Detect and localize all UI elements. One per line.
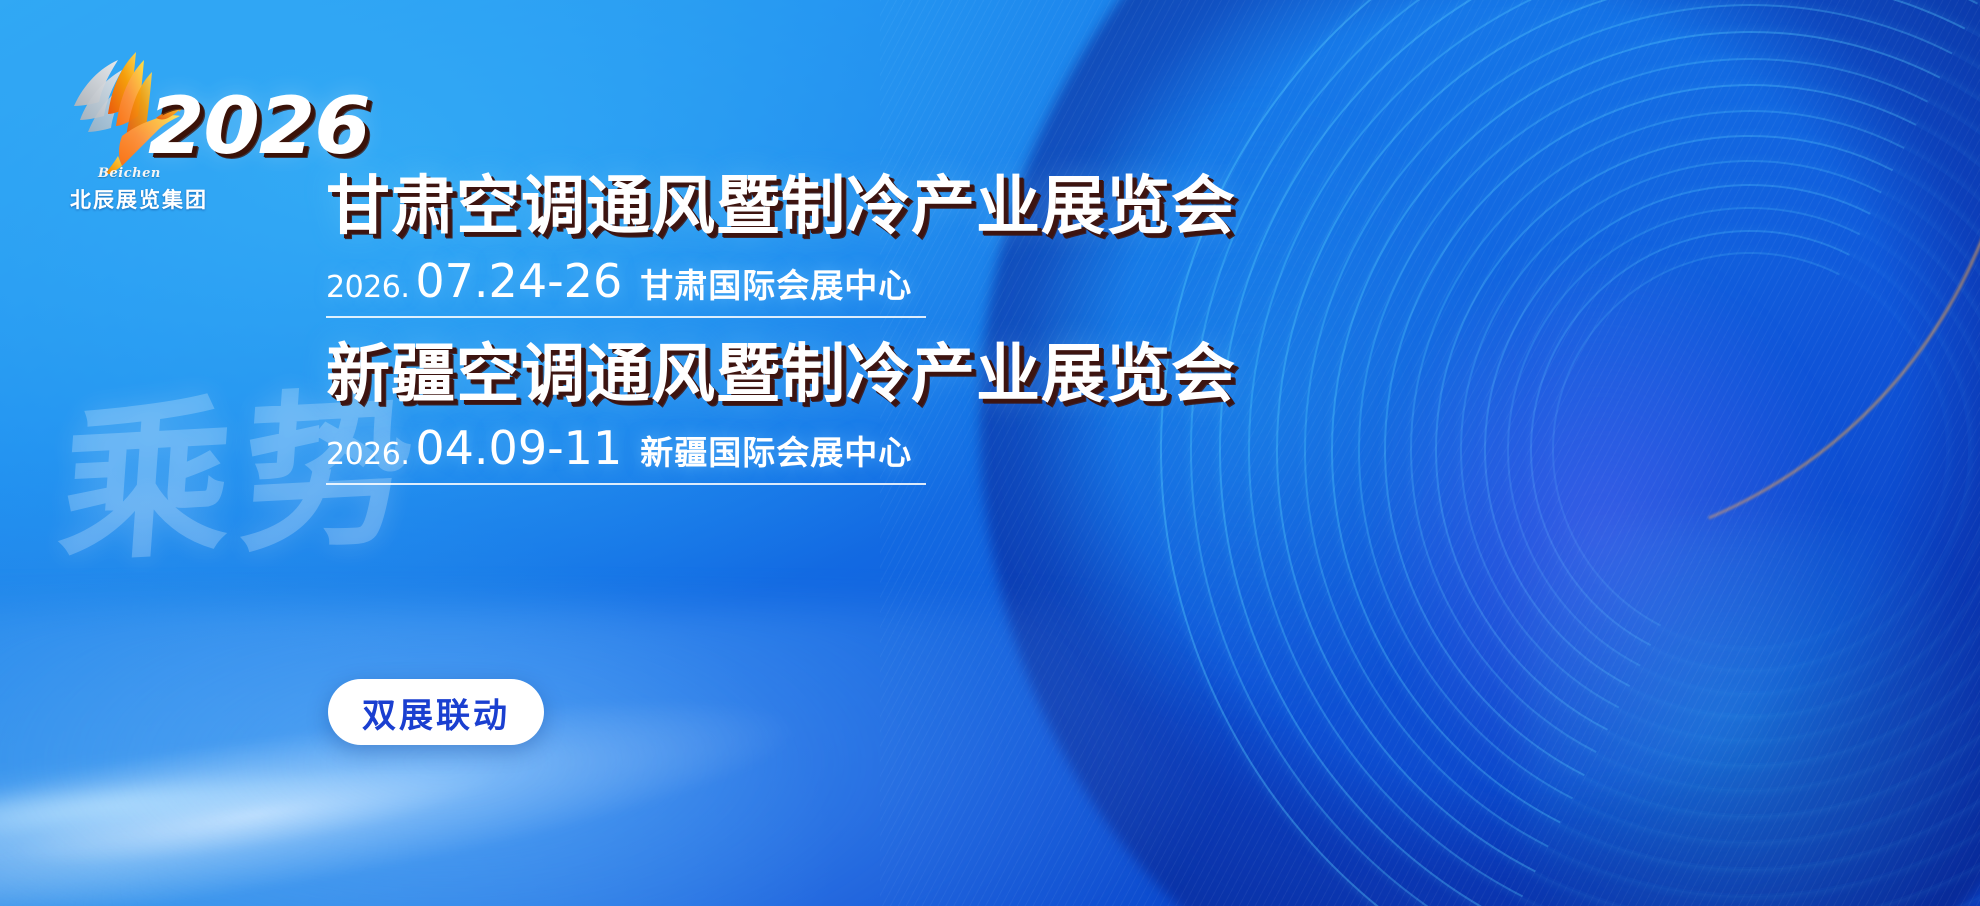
event-venue: 甘肃国际会展中心 <box>640 259 912 307</box>
event-meta: 2026. 04.09-11 新疆国际会展中心 <box>326 421 926 485</box>
cyan-edge-sheen <box>1520 520 1980 906</box>
dual-expo-cta-button[interactable]: 双展联动 <box>328 679 544 745</box>
event-title: 甘肃空调通风暨制冷产业展览会 <box>326 170 1426 246</box>
event-date-range: 04.09-11 <box>415 421 622 475</box>
event-venue: 新疆国际会展中心 <box>640 426 912 474</box>
bottom-glow <box>0 606 1280 906</box>
dual-expo-cta-label: 双展联动 <box>362 688 510 737</box>
event-date-range: 07.24-26 <box>415 254 622 308</box>
event-date-year: 2026. <box>326 437 409 472</box>
event-list: 甘肃空调通风暨制冷产业展览会 2026. 07.24-26 甘肃国际会展中心 新… <box>326 170 1426 505</box>
year-badge: 2026 <box>148 82 370 172</box>
logo-company-name: 北辰展览集团 <box>70 184 208 214</box>
event-meta: 2026. 07.24-26 甘肃国际会展中心 <box>326 254 926 318</box>
event-block-gansu: 甘肃空调通风暨制冷产业展览会 2026. 07.24-26 甘肃国际会展中心 <box>326 170 1426 318</box>
exhibition-banner: 乘势 <box>0 0 1980 906</box>
event-date-year: 2026. <box>326 270 409 305</box>
event-title: 新疆空调通风暨制冷产业展览会 <box>326 338 1426 414</box>
event-block-xinjiang: 新疆空调通风暨制冷产业展览会 2026. 04.09-11 新疆国际会展中心 <box>326 338 1426 486</box>
